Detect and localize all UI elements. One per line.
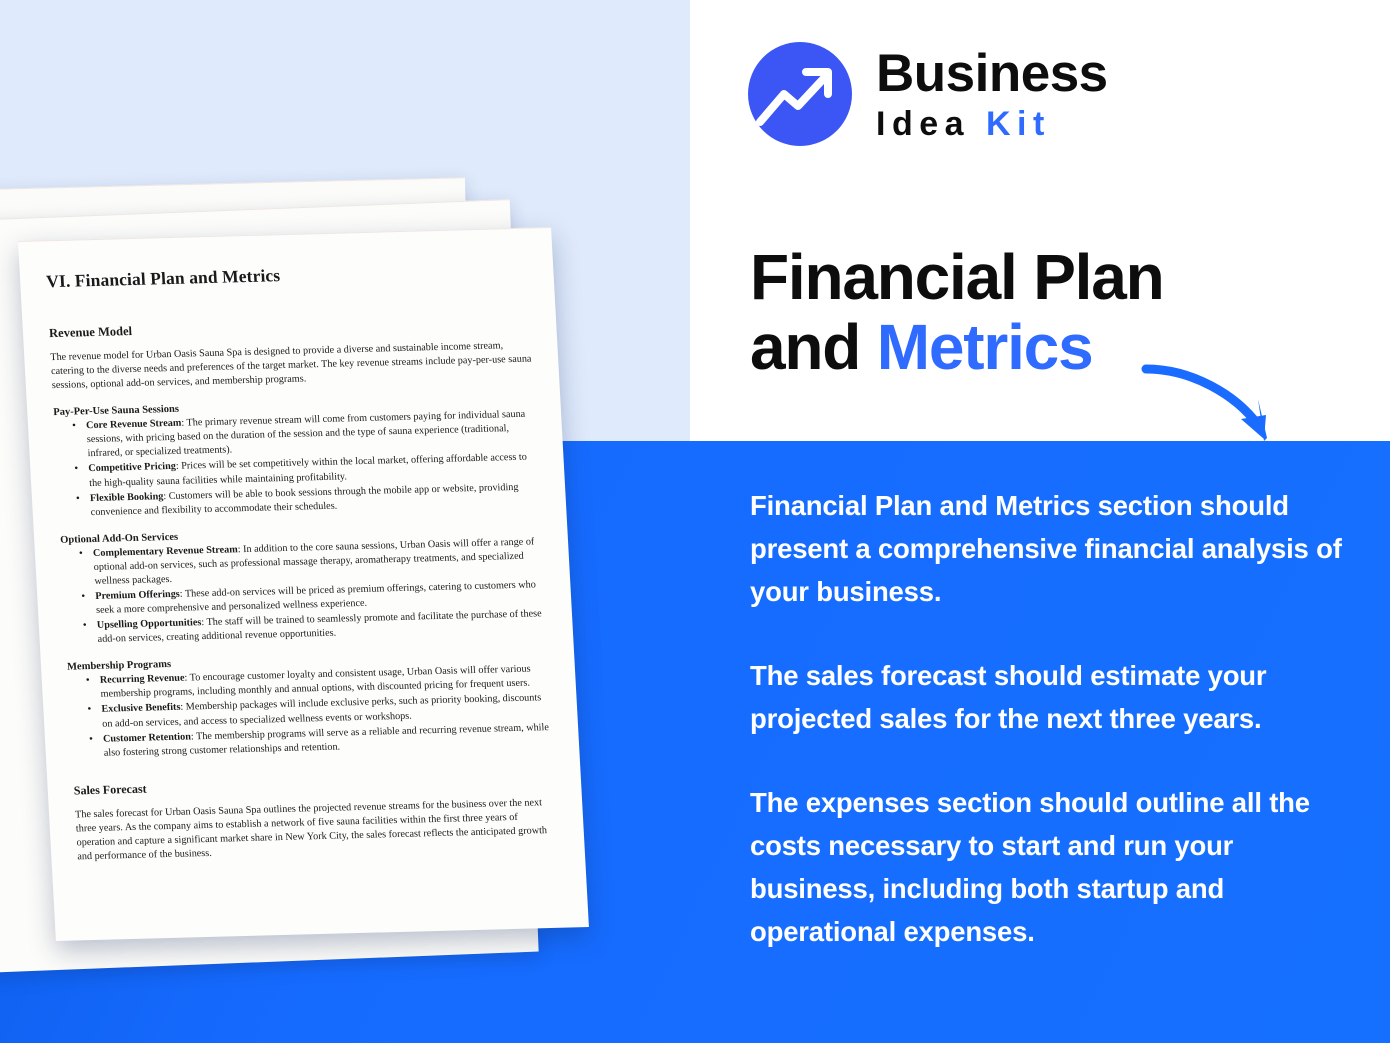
sales-forecast-heading: Sales Forecast <box>73 771 555 799</box>
document-page-front: VI. Financial Plan and Metrics Revenue M… <box>18 227 589 941</box>
revenue-model-paragraph: The revenue model for Urban Oasis Sauna … <box>50 339 533 394</box>
bullet-term: Flexible Booking <box>90 491 164 504</box>
brand-line-idea-kit: Idea Kit <box>876 107 1108 141</box>
brand-kit-text: Kit <box>986 105 1051 143</box>
membership-programs-bullets: Recurring Revenue: To encourage customer… <box>68 662 554 761</box>
bullet-term: Premium Offerings <box>95 589 180 602</box>
sales-forecast-paragraph: The sales forecast for Urban Oasis Sauna… <box>75 796 559 865</box>
description-paragraph-3: The expenses section should outline all … <box>750 781 1350 953</box>
brand-wordmark: Business Idea Kit <box>876 47 1108 141</box>
curved-arrow-down-right-icon <box>1140 355 1310 450</box>
growth-arrow-icon <box>748 42 852 146</box>
bullet-term: Exclusive Benefits <box>101 702 181 715</box>
brand-idea-text: Idea <box>876 105 986 143</box>
bullet-term: Complementary Revenue Stream <box>93 544 238 559</box>
headline-line-2-accent: Metrics <box>877 311 1093 383</box>
description-paragraph-2: The sales forecast should estimate your … <box>750 654 1350 740</box>
document-content: VI. Financial Plan and Metrics Revenue M… <box>18 228 586 887</box>
brand-logo: Business Idea Kit <box>748 42 1108 146</box>
bullet-term: Recurring Revenue <box>100 673 185 686</box>
poster-canvas: V Re The inc stre V Re The inc stre Pay … <box>0 0 1390 1043</box>
bullet-term: Competitive Pricing <box>88 461 176 474</box>
headline-line-2-plain: and <box>750 311 877 383</box>
bullet-term: Core Revenue Stream <box>86 418 182 431</box>
brand-line-business: Business <box>876 47 1108 100</box>
description-paragraph-1: Financial Plan and Metrics section shoul… <box>750 484 1350 613</box>
document-title: VI. Financial Plan and Metrics <box>46 259 528 293</box>
bullet-term: Upselling Opportunities <box>97 617 202 631</box>
add-on-services-bullets: Complementary Revenue Stream: In additio… <box>61 535 547 648</box>
description-text: Financial Plan and Metrics section shoul… <box>750 484 1350 953</box>
pay-per-use-bullets: Core Revenue Stream: The primary revenue… <box>54 408 540 521</box>
bullet-term: Customer Retention <box>103 731 191 744</box>
headline-line-1: Financial Plan <box>750 241 1164 313</box>
revenue-model-heading: Revenue Model <box>49 314 531 342</box>
